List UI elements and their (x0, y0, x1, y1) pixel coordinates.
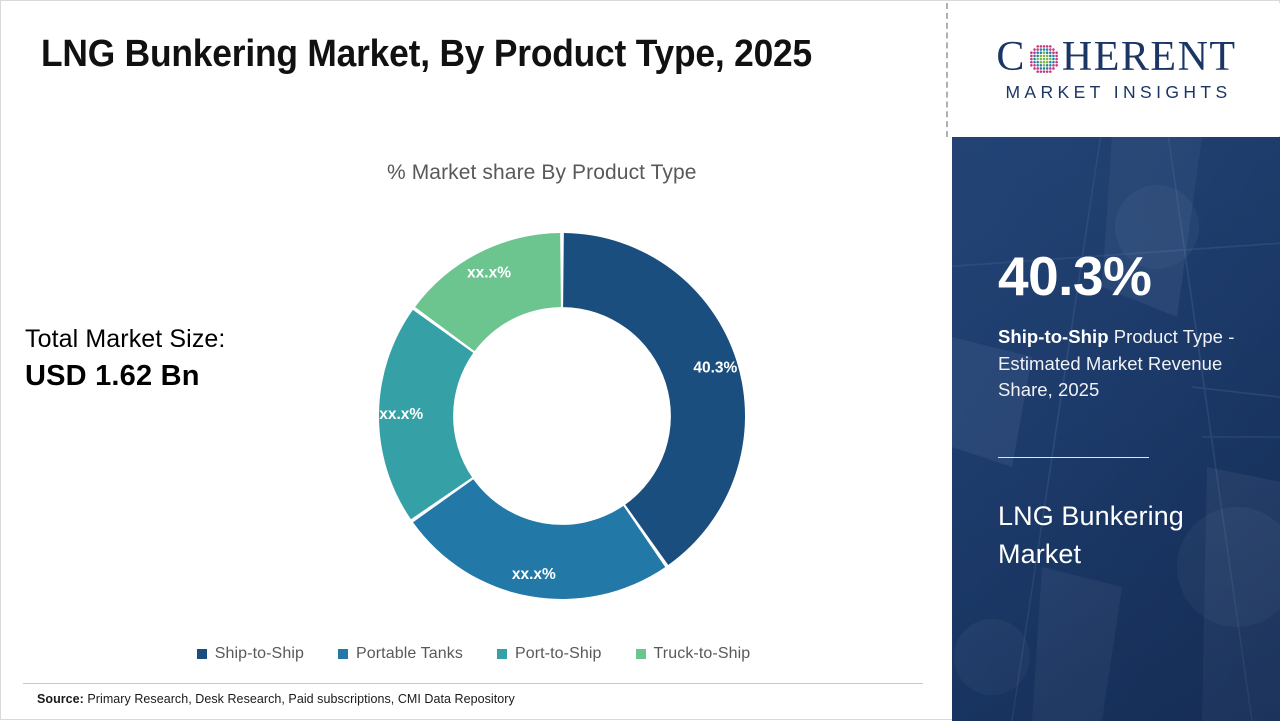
donut-slice-label: xx.x% (512, 566, 556, 583)
left-content-pane: LNG Bunkering Market, By Product Type, 2… (1, 1, 946, 721)
legend-label: Truck-to-Ship (654, 645, 751, 663)
brand-logo: C HERENT MARKET INSIGHTS (952, 3, 1280, 136)
brand-logo-letters-herent: HERENT (1062, 36, 1237, 78)
donut-slice (563, 233, 745, 565)
total-market-size-value: USD 1.62 Bn (25, 358, 325, 396)
total-market-size-block: Total Market Size: USD 1.62 Bn (25, 323, 325, 396)
legend-swatch-icon (197, 649, 207, 659)
legend-swatch-icon (636, 649, 646, 659)
stat-panel: 40.3% Ship-to-Ship Product Type - Estima… (952, 137, 1280, 721)
source-note: Source: Primary Research, Desk Research,… (37, 692, 515, 706)
panel-divider (998, 457, 1149, 458)
donut-chart: 40.3%xx.x%xx.x%xx.x% (379, 233, 745, 599)
chart-subtitle: % Market share By Product Type (387, 161, 807, 185)
donut-slice-label: xx.x% (379, 406, 423, 423)
brand-logo-subtitle: MARKET INSIGHTS (1001, 82, 1231, 103)
total-market-size-label: Total Market Size: (25, 323, 325, 356)
legend-label: Portable Tanks (356, 645, 463, 663)
panel-market-name: LNG Bunkering Market (998, 497, 1263, 574)
donut-slices (379, 233, 745, 599)
right-panel: C HERENT MARKET INSIGHTS (952, 1, 1280, 721)
stat-value: 40.3% (998, 249, 1151, 304)
stat-description-highlight: Ship-to-Ship (998, 326, 1109, 347)
legend-item[interactable]: Ship-to-Ship (197, 645, 304, 663)
panel-tint-overlay (952, 137, 1280, 721)
page-title: LNG Bunkering Market, By Product Type, 2… (41, 33, 841, 76)
donut-chart-svg: 40.3%xx.x%xx.x%xx.x% (379, 233, 745, 599)
infographic-frame: LNG Bunkering Market, By Product Type, 2… (0, 0, 1280, 720)
donut-slice-label: xx.x% (467, 264, 511, 281)
panel-dashed-divider (946, 3, 948, 137)
legend-label: Ship-to-Ship (215, 645, 304, 663)
source-divider (23, 683, 923, 684)
legend-label: Port-to-Ship (515, 645, 602, 663)
legend-item[interactable]: Portable Tanks (338, 645, 463, 663)
brand-logo-wordmark: C HERENT (996, 36, 1236, 78)
legend-swatch-icon (497, 649, 507, 659)
chart-legend: Ship-to-ShipPortable TanksPort-to-ShipTr… (1, 645, 946, 663)
brand-logo-letter-c: C (996, 36, 1026, 78)
legend-item[interactable]: Truck-to-Ship (636, 645, 751, 663)
stat-description: Ship-to-Ship Product Type - Estimated Ma… (998, 324, 1273, 404)
source-label: Source: (37, 692, 84, 706)
legend-item[interactable]: Port-to-Ship (497, 645, 602, 663)
legend-swatch-icon (338, 649, 348, 659)
dotted-sphere-icon (1027, 42, 1061, 76)
donut-slice-label: 40.3% (693, 359, 737, 376)
source-text: Primary Research, Desk Research, Paid su… (84, 692, 515, 706)
